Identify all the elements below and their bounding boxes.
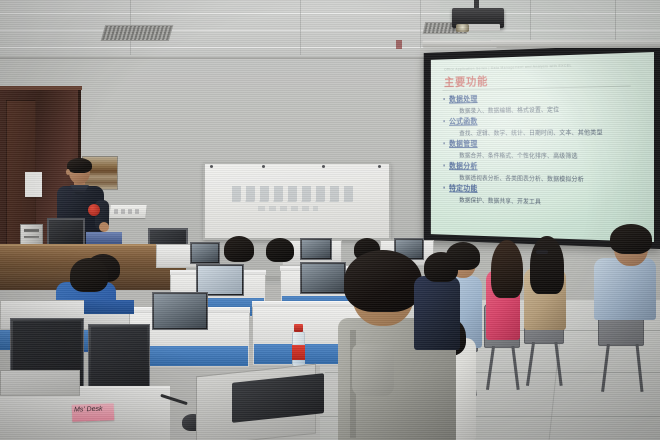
attendee-torso <box>594 258 656 320</box>
glasses-icon <box>536 250 548 254</box>
attendee-hair <box>344 250 422 312</box>
whiteboard-clip <box>262 165 265 168</box>
slide-bullet-list: 数据处理 数据录入、数据编辑、格式设置、定位 公式函数 查找、逻辑、数学、统计、… <box>442 90 648 210</box>
whiteboard-writing <box>232 186 357 202</box>
desk-label-text: Ms' Desk <box>74 405 112 413</box>
cabinet-top-trim <box>0 86 82 90</box>
slide-bullet-detail: 查找、逻辑、数学、统计、日期时间、文本、其他类型 <box>442 126 648 137</box>
slide-bullet-detail: 数据合并、条件格式、个性化排序、高级筛选 <box>442 150 648 160</box>
attendee-hair <box>266 238 294 262</box>
whiteboard-writing <box>258 206 318 211</box>
paper-writing <box>114 209 141 214</box>
slide-bullet-item: 数据处理 数据录入、数据编辑、格式设置、定位 <box>442 90 648 115</box>
slide-bullet-item: 数据管理 数据合并、条件格式、个性化排序、高级筛选 <box>442 138 648 160</box>
slide-bullet-heading: 数据分析 <box>442 161 648 173</box>
attendee-hair <box>610 224 652 254</box>
attendee-hair <box>224 236 254 262</box>
pc-tower <box>0 370 80 396</box>
monitor-screen <box>154 294 206 328</box>
slide-bullet-item: 公式函数 查找、逻辑、数学、统计、日期时间、文本、其他类型 <box>442 114 648 137</box>
ceiling-tile-line <box>0 13 660 14</box>
pc-drive-slot <box>24 229 39 232</box>
monitor-screen <box>198 266 242 294</box>
bottle-label <box>292 345 305 360</box>
attendee-hair <box>491 240 523 298</box>
instructor-hand <box>99 222 109 232</box>
cubicle-top-rail <box>252 301 362 307</box>
monitor-screen <box>302 240 330 258</box>
bottle-cap <box>294 324 303 332</box>
attendee-torso <box>414 276 460 350</box>
projector-base <box>466 24 500 31</box>
classroom-photo: Office Application Series | Data Managem… <box>0 0 660 440</box>
monitor-screen <box>192 244 218 262</box>
projection-screen: Office Application Series | Data Managem… <box>431 52 654 242</box>
ceiling-tile-line <box>300 0 301 62</box>
podium-monitor <box>47 218 85 246</box>
attendee-hair <box>530 236 564 294</box>
slide-bullet-item: 数据分析 数据透视表分析、各类图表分析、数据模拟分析 <box>442 161 648 184</box>
attendee-hair <box>70 258 108 292</box>
whiteboard-clip <box>378 165 381 168</box>
slide-bullet-heading: 数据管理 <box>442 138 648 149</box>
projection-screen-roller <box>422 40 660 48</box>
monitor-screen <box>302 264 344 292</box>
attendee-torso <box>84 300 134 314</box>
shirt-logo-icon <box>88 204 100 216</box>
posted-notice-paper <box>25 172 42 197</box>
projector-lens-icon <box>456 24 469 32</box>
pc-drive-slot <box>24 236 39 238</box>
attendee-hair <box>424 252 458 282</box>
slide-title: 主要功能 <box>444 73 488 90</box>
slide-header-line: Office Application Series | Data Managem… <box>444 63 572 72</box>
whiteboard-clip <box>322 165 325 168</box>
ceiling-tile-line <box>0 30 660 31</box>
slide-bullet-detail: 数据透视表分析、各类图表分析、数据模拟分析 <box>442 172 648 184</box>
instructor-ear <box>66 169 70 175</box>
book-stack <box>86 232 122 244</box>
screen-roller-cap <box>396 40 402 49</box>
attendee-arm <box>352 344 394 396</box>
monitor-screen <box>91 327 147 391</box>
slide-bullet-heading: 公式函数 <box>442 114 648 127</box>
slide-bullet-item: 特定功能 数据保护、数据共享、开发工具 <box>442 183 648 208</box>
instructor-hair <box>67 158 92 173</box>
ceiling-vent-icon <box>101 25 174 41</box>
whiteboard-clip <box>210 165 213 168</box>
